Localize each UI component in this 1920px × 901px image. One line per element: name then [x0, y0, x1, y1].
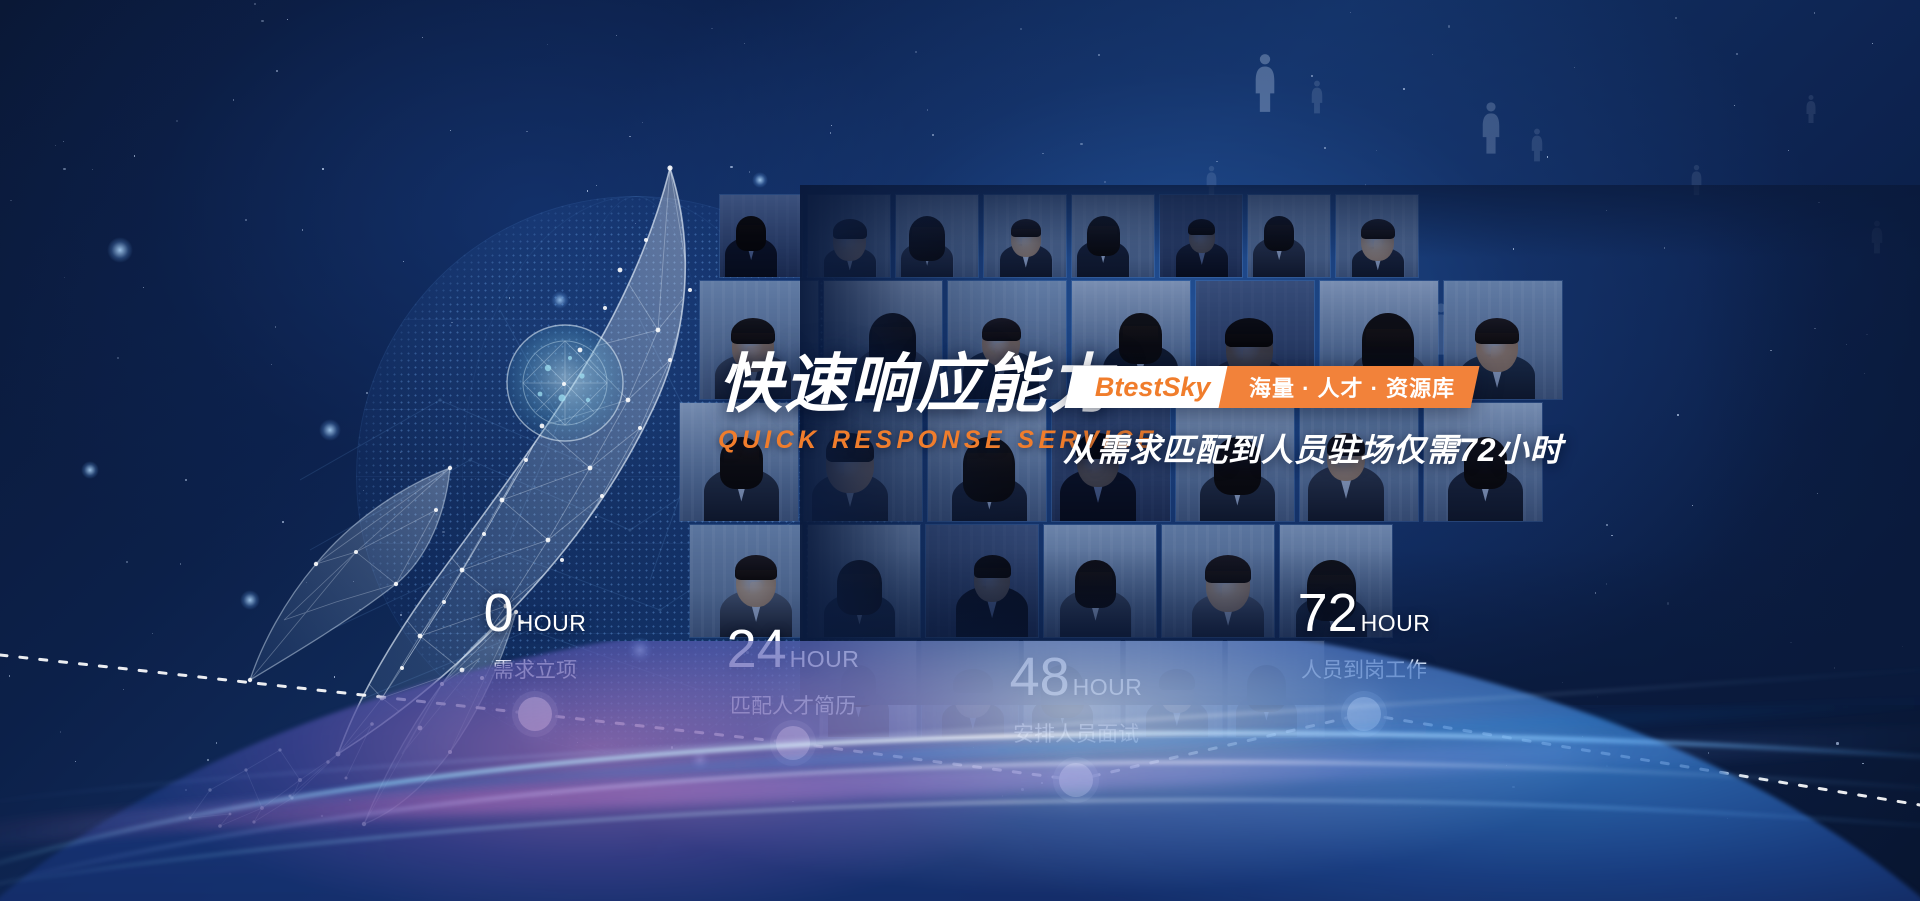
talent-photo-image: [1072, 195, 1154, 277]
star-particle: [642, 122, 643, 123]
star-particle: [261, 20, 263, 22]
talent-photo-image: [1160, 195, 1242, 277]
star-particle: [450, 130, 451, 131]
tagline: 从需求匹配到人员驻场仅需72小时: [1063, 425, 1563, 471]
star-particle: [1872, 43, 1873, 44]
star-particle: [1734, 105, 1735, 106]
aurora-wave-decoration: [0, 641, 1920, 901]
talent-photo: [984, 195, 1066, 277]
talent-photo: [1044, 525, 1156, 637]
star-particle: [1042, 153, 1043, 154]
glow-particle: [107, 237, 133, 263]
person-silhouette-icon: [1690, 160, 1703, 200]
star-particle: [711, 28, 712, 29]
star-particle: [1432, 54, 1433, 55]
glow-particle: [81, 461, 99, 479]
talent-photo: [1072, 195, 1154, 277]
brand-slogan: 海量 · 人才 · 资源库: [1249, 371, 1455, 403]
star-particle: [1788, 150, 1789, 151]
star-particle: [63, 141, 64, 142]
talent-photo-image: [1044, 525, 1156, 637]
star-particle: [1675, 17, 1677, 19]
star-particle: [1814, 12, 1815, 13]
star-particle: [287, 19, 288, 20]
star-particle: [547, 44, 548, 45]
talent-photo: [926, 525, 1038, 637]
brand-name-chip: BtestSky: [1065, 366, 1237, 408]
person-silhouette-icon: [1805, 90, 1817, 128]
person-silhouette-icon: [1530, 125, 1544, 165]
star-particle: [629, 136, 630, 137]
talent-photo-image: [808, 195, 890, 277]
star-particle: [1098, 54, 1100, 56]
timeline-step-value: 72HOUR: [1204, 586, 1524, 640]
star-particle: [1104, 181, 1106, 183]
star-particle: [92, 169, 93, 170]
star-particle: [276, 70, 278, 72]
talent-photo-image: [808, 525, 920, 637]
talent-photo-image: [984, 195, 1066, 277]
star-particle: [117, 357, 119, 359]
star-particle: [616, 35, 617, 36]
star-particle: [143, 287, 144, 288]
talent-photo: [808, 195, 890, 277]
talent-photo-image: [926, 525, 1038, 637]
banner-stage: 快速响应能力 QUICK RESPONSE SERVICE BtestSky 海…: [0, 0, 1920, 901]
star-particle: [1324, 147, 1325, 148]
star-particle: [1736, 53, 1737, 54]
star-particle: [1080, 143, 1082, 145]
star-particle: [1574, 67, 1575, 68]
star-particle: [55, 145, 56, 146]
star-particle: [422, 37, 423, 38]
star-particle: [831, 125, 832, 126]
brand-slogan-chip: 海量 · 人才 · 资源库: [1218, 366, 1479, 408]
person-silhouette-icon: [1252, 52, 1278, 114]
star-particle: [176, 120, 178, 122]
star-particle: [932, 134, 934, 136]
talent-photo: [1336, 195, 1418, 277]
star-particle: [927, 109, 928, 110]
star-particle: [526, 131, 527, 132]
aurora-arcs: [0, 641, 1920, 901]
talent-photo: [1160, 195, 1242, 277]
star-particle: [254, 3, 255, 4]
star-particle: [830, 132, 831, 133]
star-particle: [233, 99, 234, 100]
star-particle: [1448, 25, 1450, 27]
star-particle: [1376, 150, 1377, 151]
star-particle: [744, 43, 745, 44]
star-particle: [126, 561, 128, 563]
brand-name: BtestSky: [1095, 372, 1211, 403]
talent-photo-image: [896, 195, 978, 277]
star-particle: [63, 168, 65, 170]
brand-badge: BtestSky 海量 · 人才 · 资源库: [1069, 366, 1475, 408]
star-particle: [1547, 156, 1548, 157]
talent-photo-image: [1336, 195, 1418, 277]
star-particle: [64, 277, 65, 278]
star-particle: [134, 155, 135, 156]
star-particle: [1350, 12, 1351, 13]
talent-photo: [808, 525, 920, 637]
star-particle: [1020, 28, 1021, 29]
talent-photo: [896, 195, 978, 277]
talent-photo-image: [1248, 195, 1330, 277]
star-particle: [915, 51, 916, 52]
star-particle: [1403, 88, 1404, 89]
star-particle: [1365, 184, 1366, 185]
talent-photo: [1248, 195, 1330, 277]
person-silhouette-icon: [1310, 75, 1324, 119]
star-particle: [10, 200, 11, 201]
person-silhouette-icon: [1480, 100, 1502, 156]
